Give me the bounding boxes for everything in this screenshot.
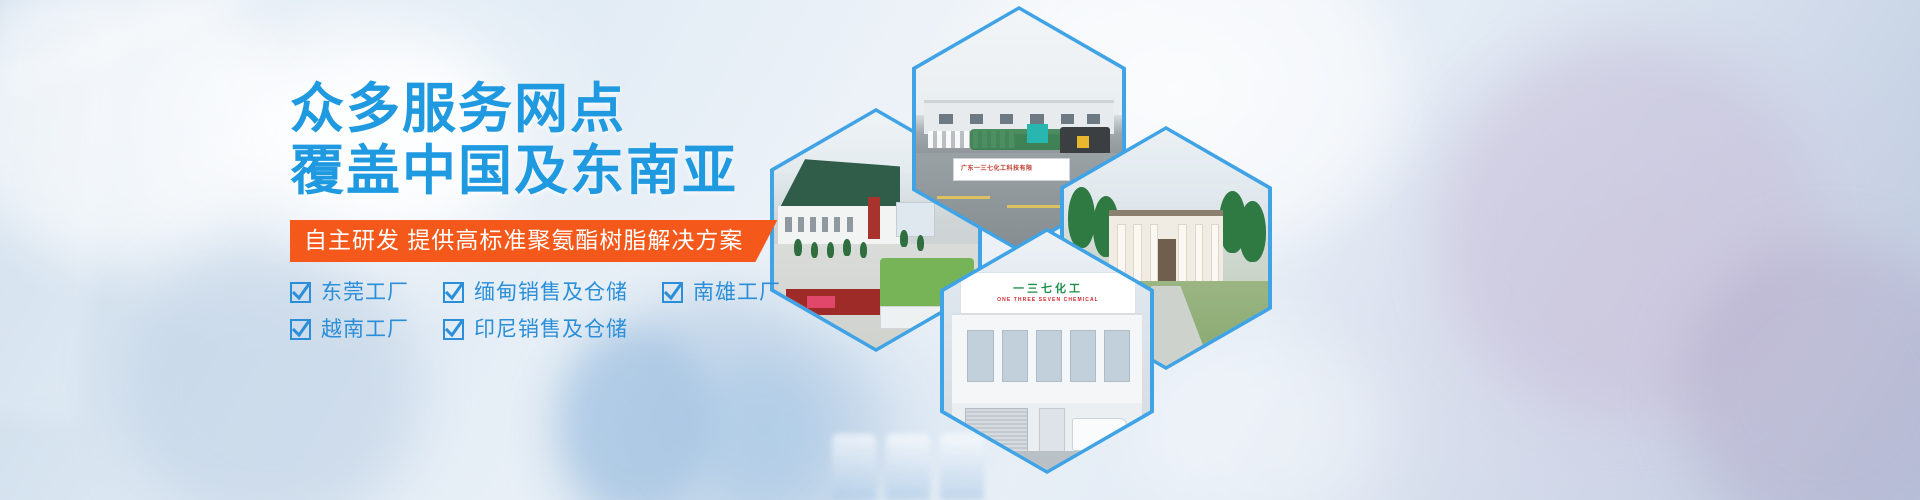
headline-line-1: 众多服务网点	[290, 79, 626, 139]
checkbox-checked-icon	[443, 319, 464, 340]
check-row: 东莞工厂 缅甸销售及仓储	[290, 282, 770, 303]
banner-copy: 众多服务网点 覆盖中国及东南亚 自主研发 提供高标准聚氨酯树脂解决方案 东莞工厂	[290, 78, 770, 356]
photo-sign-text: 广东一三七化工科技有限	[961, 163, 1033, 172]
headline-line-2: 覆盖中国及东南亚	[290, 140, 770, 202]
checkbox-checked-icon	[290, 319, 311, 340]
check-item-myanmar-sales-warehouse[interactable]: 缅甸销售及仓储	[443, 282, 628, 303]
page-title: 众多服务网点 覆盖中国及东南亚	[290, 78, 770, 202]
hexagon-photo-gallery: 广东一三七化工科技有限	[0, 0, 1920, 500]
feature-check-list: 东莞工厂 缅甸销售及仓储	[290, 282, 770, 340]
checkbox-checked-icon	[662, 282, 683, 303]
check-item-dongguan-factory[interactable]: 东莞工厂	[290, 282, 409, 303]
storefront-signboard: 一三七化工 ONE THREE SEVEN CHEMICAL	[960, 272, 1135, 314]
check-row: 越南工厂 印尼销售及仓储	[290, 319, 770, 340]
check-item-label: 越南工厂	[321, 319, 409, 340]
check-item-label: 缅甸销售及仓储	[474, 282, 628, 303]
check-item-nanxiong-factory[interactable]: 南雄工厂	[662, 282, 781, 303]
checkbox-checked-icon	[443, 282, 464, 303]
promo-banner: 广东一三七化工科技有限	[0, 0, 1920, 500]
signboard-cn-text: 一三七化工	[1013, 283, 1083, 295]
subheadline-ribbon: 自主研发 提供高标准聚氨酯树脂解决方案	[290, 220, 777, 262]
check-item-indonesia-sales-warehouse[interactable]: 印尼销售及仓储	[443, 319, 628, 340]
signboard-en-text: ONE THREE SEVEN CHEMICAL	[997, 297, 1099, 304]
check-item-label: 东莞工厂	[321, 282, 409, 303]
check-item-label: 南雄工厂	[693, 282, 781, 303]
check-item-label: 印尼销售及仓储	[474, 319, 628, 340]
check-item-vietnam-factory[interactable]: 越南工厂	[290, 319, 409, 340]
checkbox-checked-icon	[290, 282, 311, 303]
